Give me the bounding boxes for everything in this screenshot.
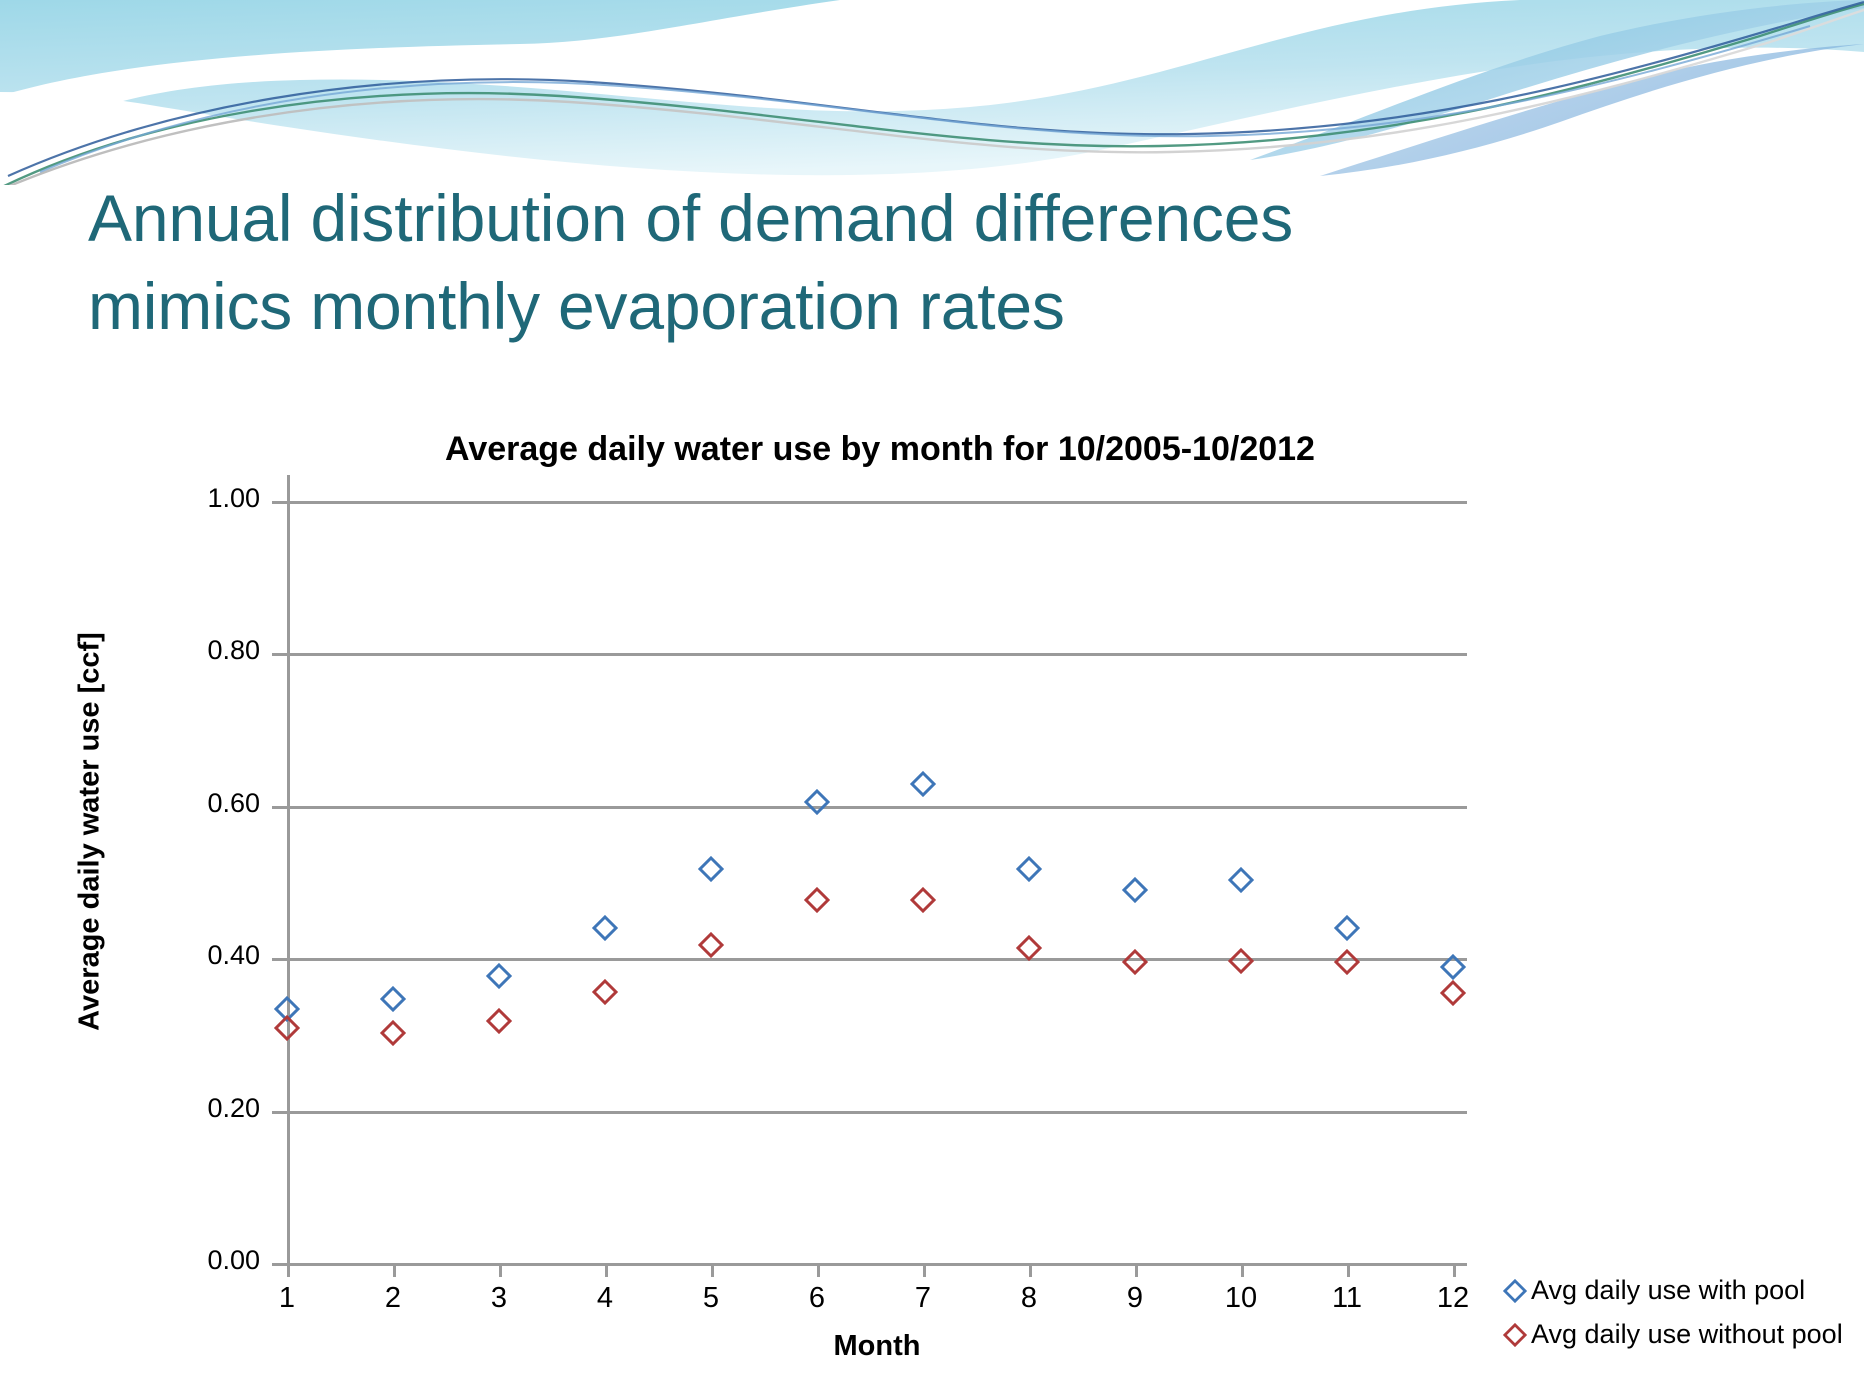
x-tick-mark	[1241, 1263, 1244, 1277]
data-point-marker	[1016, 856, 1042, 882]
x-tick-label: 6	[777, 1282, 857, 1315]
x-tick-label: 2	[353, 1282, 433, 1315]
data-point-marker	[592, 915, 618, 941]
data-point-marker	[1440, 954, 1466, 980]
data-point-marker	[1228, 867, 1254, 893]
data-point-marker	[1016, 935, 1042, 961]
y-axis-line	[287, 475, 290, 1265]
x-axis-label: Month	[287, 1330, 1467, 1363]
y-tick-mark	[272, 653, 290, 656]
data-point-marker	[1228, 948, 1254, 974]
x-tick-mark	[499, 1263, 502, 1277]
gridline	[287, 806, 1467, 809]
y-tick-mark	[272, 501, 290, 504]
x-tick-mark	[923, 1263, 926, 1277]
data-point-marker	[910, 771, 936, 797]
data-point-marker	[486, 1008, 512, 1034]
data-point-marker	[486, 963, 512, 989]
data-point-marker	[1334, 949, 1360, 975]
x-axis-line	[287, 1263, 1467, 1266]
legend-item-label: Avg daily use with pool	[1531, 1275, 1805, 1306]
data-point-marker	[698, 856, 724, 882]
chart-container: Average daily water use by month for 10/…	[0, 420, 1864, 1396]
legend-item: Avg daily use with pool	[1503, 1275, 1843, 1306]
x-tick-label: 4	[565, 1282, 645, 1315]
y-tick-label: 0.80	[140, 635, 260, 666]
data-point-marker	[380, 986, 406, 1012]
x-tick-mark	[1029, 1263, 1032, 1277]
x-tick-label: 5	[671, 1282, 751, 1315]
data-point-marker	[1122, 877, 1148, 903]
x-tick-mark	[1135, 1263, 1138, 1277]
x-tick-label: 12	[1413, 1282, 1493, 1315]
y-tick-label: 0.00	[140, 1245, 260, 1276]
x-tick-mark	[287, 1263, 290, 1277]
y-tick-mark	[272, 806, 290, 809]
x-tick-mark	[605, 1263, 608, 1277]
x-tick-label: 3	[459, 1282, 539, 1315]
x-tick-mark	[1453, 1263, 1456, 1277]
x-tick-mark	[1347, 1263, 1350, 1277]
x-tick-label: 9	[1095, 1282, 1175, 1315]
x-tick-label: 10	[1201, 1282, 1281, 1315]
legend-item-label: Avg daily use without pool	[1531, 1319, 1843, 1350]
y-tick-label: 0.20	[140, 1093, 260, 1124]
y-tick-label: 0.40	[140, 940, 260, 971]
x-tick-mark	[711, 1263, 714, 1277]
chart-legend: Avg daily use with poolAvg daily use wit…	[1503, 1275, 1843, 1363]
data-point-marker	[804, 789, 830, 815]
legend-item: Avg daily use without pool	[1503, 1319, 1843, 1350]
slide-header-decoration	[0, 0, 1864, 185]
y-tick-label: 1.00	[140, 483, 260, 514]
header-swoosh-graphic	[0, 0, 1864, 185]
x-tick-label: 7	[883, 1282, 963, 1315]
y-tick-label: 0.60	[140, 788, 260, 819]
gridline	[287, 501, 1467, 504]
data-point-marker	[910, 887, 936, 913]
y-tick-mark	[272, 1111, 290, 1114]
diamond-outline-icon	[1503, 1279, 1527, 1303]
data-point-marker	[804, 887, 830, 913]
gridline	[287, 1111, 1467, 1114]
data-point-marker	[1440, 980, 1466, 1006]
data-point-marker	[380, 1020, 406, 1046]
x-tick-label: 8	[989, 1282, 1069, 1315]
gridline	[287, 653, 1467, 656]
data-point-marker	[698, 932, 724, 958]
gridline	[287, 958, 1467, 961]
data-point-marker	[274, 1015, 300, 1041]
y-tick-mark	[272, 958, 290, 961]
data-point-marker	[1122, 949, 1148, 975]
data-point-marker	[592, 979, 618, 1005]
y-axis-label: Average daily water use [ccf]	[74, 582, 107, 1082]
slide-title: Annual distribution of demand difference…	[88, 175, 1808, 351]
x-tick-label: 1	[247, 1282, 327, 1315]
chart-plot-area: 0.000.200.400.600.801.00 123456789101112…	[0, 420, 1864, 1396]
x-tick-mark	[817, 1263, 820, 1277]
x-tick-label: 11	[1307, 1282, 1387, 1315]
x-tick-mark	[393, 1263, 396, 1277]
data-point-marker	[1334, 915, 1360, 941]
diamond-outline-icon	[1503, 1323, 1527, 1347]
